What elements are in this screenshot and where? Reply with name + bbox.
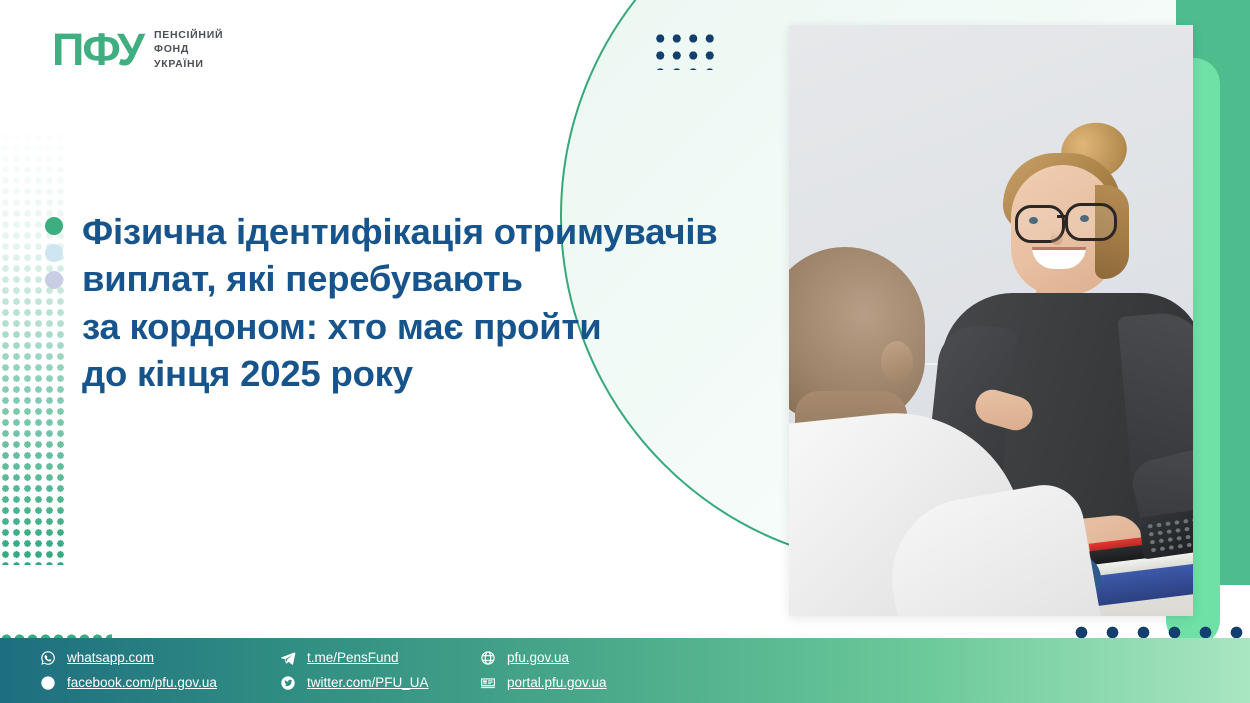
footer-link-whatsapp[interactable]: whatsapp.com <box>40 650 270 666</box>
footer-column-web: pfu.gov.ua portal.pfu.gov.ua <box>480 650 710 691</box>
pfu-logo-line-3: УКРАЇНИ <box>154 58 223 70</box>
photo-man-ear <box>881 341 913 383</box>
footer-link-label: twitter.com/PFU_UA <box>307 676 429 690</box>
pfu-logo-mark: ПФУ <box>52 27 143 72</box>
halftone-pattern-left <box>0 120 66 565</box>
page-title-line-2: виплат, які перебувають <box>82 255 772 302</box>
footer-link-portal[interactable]: portal.pfu.gov.ua <box>480 675 710 691</box>
whatsapp-icon <box>40 650 56 666</box>
photo-woman-eye-right <box>1080 215 1089 222</box>
pfu-logo-line-1: ПЕНСІЙНИЙ <box>154 29 223 41</box>
globe-icon <box>480 650 496 666</box>
photo-calculator-keys <box>1145 515 1193 552</box>
bullet-purple-dot <box>45 271 63 289</box>
hero-photo <box>789 25 1193 616</box>
photo-woman-glasses-bridge <box>1057 215 1067 218</box>
footer-link-label: whatsapp.com <box>67 651 154 665</box>
page-title-line-1: Фізична ідентифікація отримувачів <box>82 208 772 255</box>
footer-link-label: pfu.gov.ua <box>507 651 569 665</box>
page-title: Фізична ідентифікація отримувачів виплат… <box>82 208 772 398</box>
bullet-green-dot <box>45 217 63 235</box>
telegram-icon <box>280 650 296 666</box>
footer-link-twitter[interactable]: twitter.com/PFU_UA <box>280 675 480 691</box>
contact-footer-bar: whatsapp.com facebook.com/pfu.gov.ua t.m… <box>0 638 1250 703</box>
pfu-logo[interactable]: ПФУ ПЕНСІЙНИЙ ФОНД УКРАЇНИ <box>52 27 223 72</box>
footer-link-telegram[interactable]: t.me/PensFund <box>280 650 480 666</box>
footer-link-facebook[interactable]: facebook.com/pfu.gov.ua <box>40 675 270 691</box>
footer-link-label: facebook.com/pfu.gov.ua <box>67 676 217 690</box>
pfu-logo-wordmark: ПЕНСІЙНИЙ ФОНД УКРАЇНИ <box>154 29 223 70</box>
photo-woman-nose <box>1051 231 1063 245</box>
photo-woman-eye-left <box>1029 217 1038 224</box>
headline-bullet-dots <box>45 217 63 289</box>
twitter-icon <box>280 675 296 691</box>
pfu-logo-line-2: ФОНД <box>154 43 223 55</box>
footer-link-label: portal.pfu.gov.ua <box>507 676 607 690</box>
facebook-icon <box>40 675 56 691</box>
footer-column-messengers: t.me/PensFund twitter.com/PFU_UA <box>280 650 480 691</box>
photo-woman-glasses-right <box>1065 203 1117 241</box>
page-title-line-4: до кінця 2025 року <box>82 350 772 397</box>
bullet-blue-dot <box>45 244 63 262</box>
footer-link-website[interactable]: pfu.gov.ua <box>480 650 710 666</box>
page-title-line-3: за кордоном: хто має пройти <box>82 303 772 350</box>
poster-canvas: ПФУ ПЕНСІЙНИЙ ФОНД УКРАЇНИ Фізична ідент… <box>0 0 1250 703</box>
portal-icon <box>480 675 496 691</box>
dot-grid-top <box>652 30 718 70</box>
footer-link-label: t.me/PensFund <box>307 651 399 665</box>
footer-column-social: whatsapp.com facebook.com/pfu.gov.ua <box>40 650 270 691</box>
